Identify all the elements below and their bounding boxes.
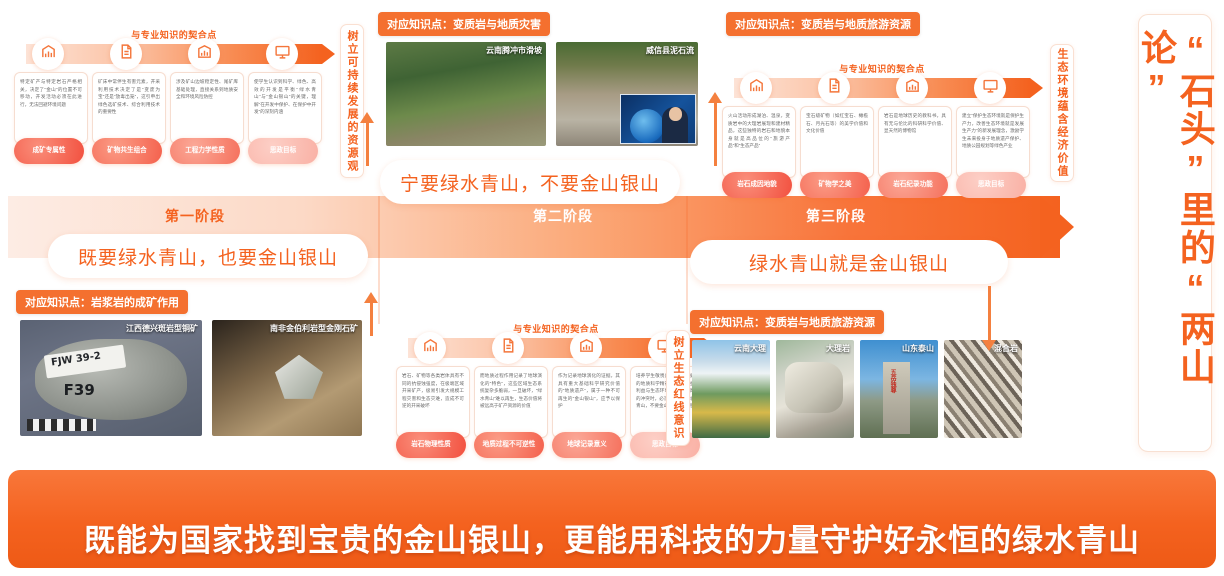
step-pill-2-1: 岩石成因地貌 [722, 172, 792, 198]
tv-anchor-face [669, 107, 682, 121]
side-label-eco-economic-value: 生态环境蕴含经济价值 [1050, 44, 1074, 182]
step-pill-3-2: 地质过程不可逆性 [474, 432, 544, 458]
step-note-3-3: 作为记录地球演化的证据，其具有重大基础科学研究价值的“地质遗产”，属于一种不可再… [552, 366, 626, 438]
step-icon-circle-2-4 [974, 72, 1006, 104]
stage-label-2: 第二阶段 [533, 206, 593, 226]
arrow-stem [714, 100, 717, 166]
photo-yunnan-dali: 云南大理 [692, 340, 770, 438]
bar-chart-building-icon [748, 77, 765, 99]
photo-weixin-debris-flow: 威信县泥石流 [556, 42, 698, 146]
bottom-banner: 既能为国家找到宝贵的金山银山，更能用科技的力量守护好永恒的绿水青山 [8, 470, 1216, 568]
arrow-head [982, 340, 996, 351]
photo-dexing-copper: 江西德兴斑岩型铜矿 FJW 39-2 F39 [20, 320, 202, 436]
tv-news-inset [620, 94, 696, 144]
step-pill-2-2: 矿物学之美 [800, 172, 870, 198]
tv-globe-graphic [630, 109, 664, 143]
step-pill-1-3: 工程力学性质 [170, 138, 240, 164]
step-note-1-4: 使学生认识到科学、绿色、高效的开发是平衡“绿水青山”与“金山银山”的关键，理解“… [248, 72, 322, 144]
slogan-stage-1: 既要绿水青山，也要金山银山 [48, 234, 368, 278]
stage-divider-2 [686, 196, 688, 324]
step-pill-2-3: 岩石纪录功能 [878, 172, 948, 198]
step-pill-1-4: 思政目标 [248, 138, 318, 164]
side-label-eco-redline: 树立生态红线意识 [666, 330, 690, 446]
document-icon [500, 337, 517, 359]
step-note-3-1: 岩石、矿物等各类岩体具有不同的抗侵蚀强度，在极端区域开采矿产，极易引发大规模工程… [396, 366, 470, 438]
photo-caption: 山东泰山 [902, 343, 934, 354]
step-note-1-1: 特定矿产与特定岩石严格相关，决定了“金山”的位置不可移动，开发活动必须在此进行，… [14, 72, 88, 144]
step-icon-circle-3-3 [570, 332, 602, 364]
diamond-crystal-shape [275, 355, 323, 399]
arrow-stem [370, 300, 373, 336]
photo-migmatite: 混合岩 [944, 340, 1022, 438]
slogan-stage-2: 宁要绿水青山，不要金山银山 [380, 160, 680, 204]
arrow-head [360, 112, 374, 123]
kp-tag-magmatic-ore: 对应知识点：岩浆岩的成矿作用 [16, 290, 188, 314]
photo-caption: 威信县泥石流 [646, 45, 694, 56]
stage-label-1: 第一阶段 [165, 206, 225, 226]
bar-chart-icon [904, 77, 921, 99]
stele-inscription: 五岳独尊 [888, 369, 897, 393]
side-label-sustainable-resource: 树立可持续发展的资源观 [340, 24, 364, 178]
scale-bar [27, 419, 96, 432]
arrow-stem [988, 286, 991, 344]
arrow-stem [366, 120, 369, 166]
slogan-stage-3: 绿水青山就是金山银山 [690, 240, 1008, 284]
step-note-3-2: 而地质过程作用记录了地球演化的“特色”，这些区域生态系统复杂多脆弱，一旦破坏，“… [474, 366, 548, 438]
kp-tag-metamorphic-tourism-top: 对应知识点：变质岩与地质旅游资源 [726, 12, 920, 36]
module-magmatic: 与专业知识的契合点 [14, 28, 334, 168]
step-note-1-2: 矿床中常伴生有害元素，开采利用技术决定了是“变废为宝”还是“放毒出笼”，这引申出… [92, 72, 166, 144]
document-icon [826, 77, 843, 99]
stage-label-3: 第三阶段 [806, 206, 866, 226]
bar-chart-building-icon [40, 43, 57, 65]
step-icon-circle-1-4 [266, 38, 298, 70]
step-icon-circle-2-3 [896, 72, 928, 104]
poster-canvas: 第一阶段 第二阶段 第三阶段 既要绿水青山，也要金山银山 宁要绿水青山，不要金山… [0, 0, 1224, 576]
photo-caption: 江西德兴斑岩型铜矿 [126, 323, 198, 334]
flow-arrow-tip-1 [322, 44, 335, 64]
poster-title-card: “石头”里的“两山论” [1138, 14, 1212, 452]
photo-tengchong-landslide: 云南腾冲市滑坡 [386, 42, 546, 146]
step-pill-2-4: 思政目标 [956, 172, 1026, 198]
presentation-icon [982, 77, 999, 99]
arrow-head [708, 92, 722, 103]
arrow-head [364, 292, 378, 303]
step-icon-circle-1-1 [32, 38, 64, 70]
step-icon-circle-1-3 [188, 38, 220, 70]
bar-chart-building-icon [422, 337, 439, 359]
marble-block-shape [785, 362, 843, 413]
step-icon-circle-1-2 [110, 38, 142, 70]
step-icon-circle-3-2 [492, 332, 524, 364]
step-icon-circle-2-2 [818, 72, 850, 104]
photo-caption: 云南腾冲市滑坡 [486, 45, 542, 56]
photo-shandong-taishan: 山东泰山 五岳独尊 [860, 340, 938, 438]
kp-tag-metamorphic-tourism-bottom: 对应知识点：变质岩与地质旅游资源 [690, 310, 884, 334]
step-pill-1-1: 成矿专属性 [14, 138, 84, 164]
step-note-2-3: 岩石是地球历史的教科书，具有无与伦比的科研科学价值、显天然的博物馆 [878, 106, 952, 178]
document-icon [118, 43, 135, 65]
step-icon-circle-2-1 [740, 72, 772, 104]
step-note-2-4: 建立“保护生态环境就是保护生产力，改善生态环境就是发展生产力”的新发展理念，激励… [956, 106, 1030, 178]
step-icon-circle-3-1 [414, 332, 446, 364]
flow-arrow-tip-2 [1030, 78, 1043, 98]
step-pill-3-1: 岩石物理性质 [396, 432, 466, 458]
stage-band-arrow-tip [1040, 196, 1074, 258]
step-note-2-2: 宝石级矿物（如红宝石、橄榄石、月光石等）的美学价值和文化价值 [800, 106, 874, 178]
step-pill-1-2: 矿物共生组合 [92, 138, 162, 164]
photo-caption: 南非金伯利岩型金刚石矿 [270, 323, 358, 334]
page-title: “石头”里的“两山论” [1136, 29, 1214, 451]
bar-chart-icon [578, 337, 595, 359]
specimen-handwriting: F39 [64, 381, 95, 399]
presentation-icon [274, 43, 291, 65]
module-metamorphic-tourism: 与专业知识的契合点 [722, 62, 1042, 202]
step-pill-3-3: 地球记录意义 [552, 432, 622, 458]
banner-text: 既能为国家找到宝贵的金山银山，更能用科技的力量守护好永恒的绿水青山 [84, 515, 1140, 560]
step-note-1-3: 涉及矿山边坡稳定性、尾矿库基础处理，直接关系到地质安全和环境风险防控 [170, 72, 244, 144]
stage-divider-1 [378, 196, 380, 324]
photo-kimberlite-diamond: 南非金伯利岩型金刚石矿 [212, 320, 362, 436]
kp-tag-metamorphic-hazard: 对应知识点：变质岩与地质灾害 [378, 12, 550, 36]
photo-caption: 大理岩 [826, 343, 850, 354]
photo-caption: 云南大理 [734, 343, 766, 354]
photo-marble: 大理岩 [776, 340, 854, 438]
step-note-2-1: 火山活动形成湖泊、温泉，变质岩中的大理岩展现和建材精品，这些独特的岩石和地貌本身… [722, 106, 796, 178]
bar-chart-icon [196, 43, 213, 65]
photo-caption: 混合岩 [994, 343, 1018, 354]
